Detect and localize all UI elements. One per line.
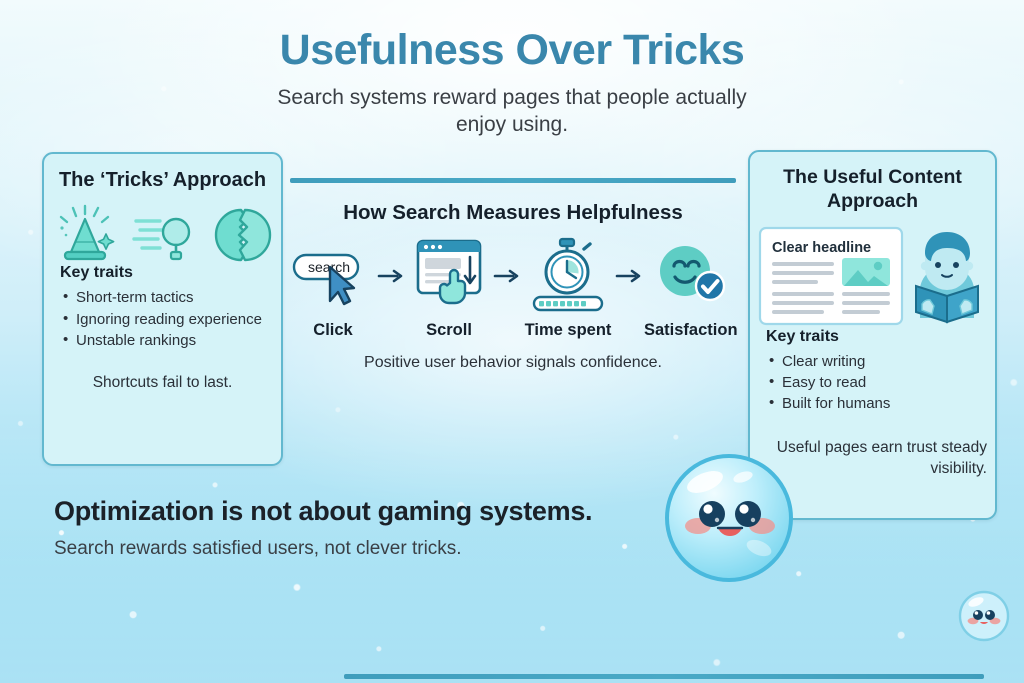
tricks-panel-title: The ‘Tricks’ Approach <box>44 154 281 192</box>
flow-arrow-3 <box>614 237 644 315</box>
search-pill-cursor-icon: search <box>290 237 376 315</box>
center-section-title: How Search Measures Helpfulness <box>290 183 736 225</box>
useful-traits-list: Clear writing Easy to read Built for hum… <box>750 351 995 415</box>
useful-panel-title: The Useful Content Approach <box>750 152 995 214</box>
flow-step-satisfaction: Satisfaction <box>644 237 736 340</box>
tricks-icon-row <box>44 192 281 264</box>
tricks-key-traits-label: Key traits <box>44 264 281 282</box>
closing-headline: Optimization is not about gaming systems… <box>54 496 694 527</box>
signal-flow: search Click <box>290 225 736 340</box>
list-item: Short-term tactics <box>76 287 271 308</box>
header: Usefulness Over Tricks Search systems re… <box>0 0 1024 139</box>
search-signals-section: How Search Measures Helpfulness search C… <box>290 178 736 388</box>
page-subtitle: Search systems reward pages that people … <box>272 85 752 139</box>
browser-scroll-hand-icon <box>406 237 492 315</box>
list-item: Ignoring reading experience <box>76 309 271 330</box>
section-divider-bottom <box>344 674 984 679</box>
page-title: Usefulness Over Tricks <box>0 0 1024 75</box>
list-item: Unstable rankings <box>76 330 271 351</box>
traffic-cone-sparkle-icon <box>54 206 116 264</box>
stopwatch-progress-icon <box>522 237 614 315</box>
tricks-panel-footer: Shortcuts fail to last. <box>44 351 281 393</box>
flow-step-scroll: Scroll <box>406 237 492 340</box>
useful-key-traits-label: Key traits <box>750 328 995 346</box>
mountain-photo-icon <box>842 258 890 286</box>
infographic-canvas: Usefulness Over Tricks Search systems re… <box>0 0 1024 683</box>
article-card-icon: Clear headline <box>758 226 904 326</box>
broken-circle-icon <box>214 206 272 264</box>
closing-subline: Search rewards satisfied users, not clev… <box>54 538 694 560</box>
tricks-approach-panel: The ‘Tricks’ Approach <box>42 152 283 466</box>
magnifier-speed-lines-icon <box>134 206 196 264</box>
flow-label-scroll: Scroll <box>406 321 492 340</box>
list-item: Built for humans <box>782 393 985 414</box>
person-reading-book-icon <box>906 224 988 328</box>
smiley-check-icon <box>644 237 736 315</box>
article-headline: Clear headline <box>772 240 871 256</box>
flow-label-click: Click <box>290 321 376 340</box>
flow-arrow-1 <box>376 237 406 315</box>
flow-step-click: search Click <box>290 237 376 340</box>
bubble-mascot-large <box>655 452 807 584</box>
flow-label-time-spent: Time spent <box>522 321 614 340</box>
closing-statement: Optimization is not about gaming systems… <box>54 496 694 560</box>
flow-arrow-2 <box>492 237 522 315</box>
useful-illustration-row: Clear headline <box>750 214 995 328</box>
center-caption: Positive user behavior signals confidenc… <box>290 340 736 388</box>
bubble-mascot-small <box>956 588 1012 644</box>
flow-label-satisfaction: Satisfaction <box>644 321 736 340</box>
list-item: Clear writing <box>782 351 985 372</box>
flow-step-time-spent: Time spent <box>522 237 614 340</box>
tricks-traits-list: Short-term tactics Ignoring reading expe… <box>44 287 281 351</box>
list-item: Easy to read <box>782 372 985 393</box>
